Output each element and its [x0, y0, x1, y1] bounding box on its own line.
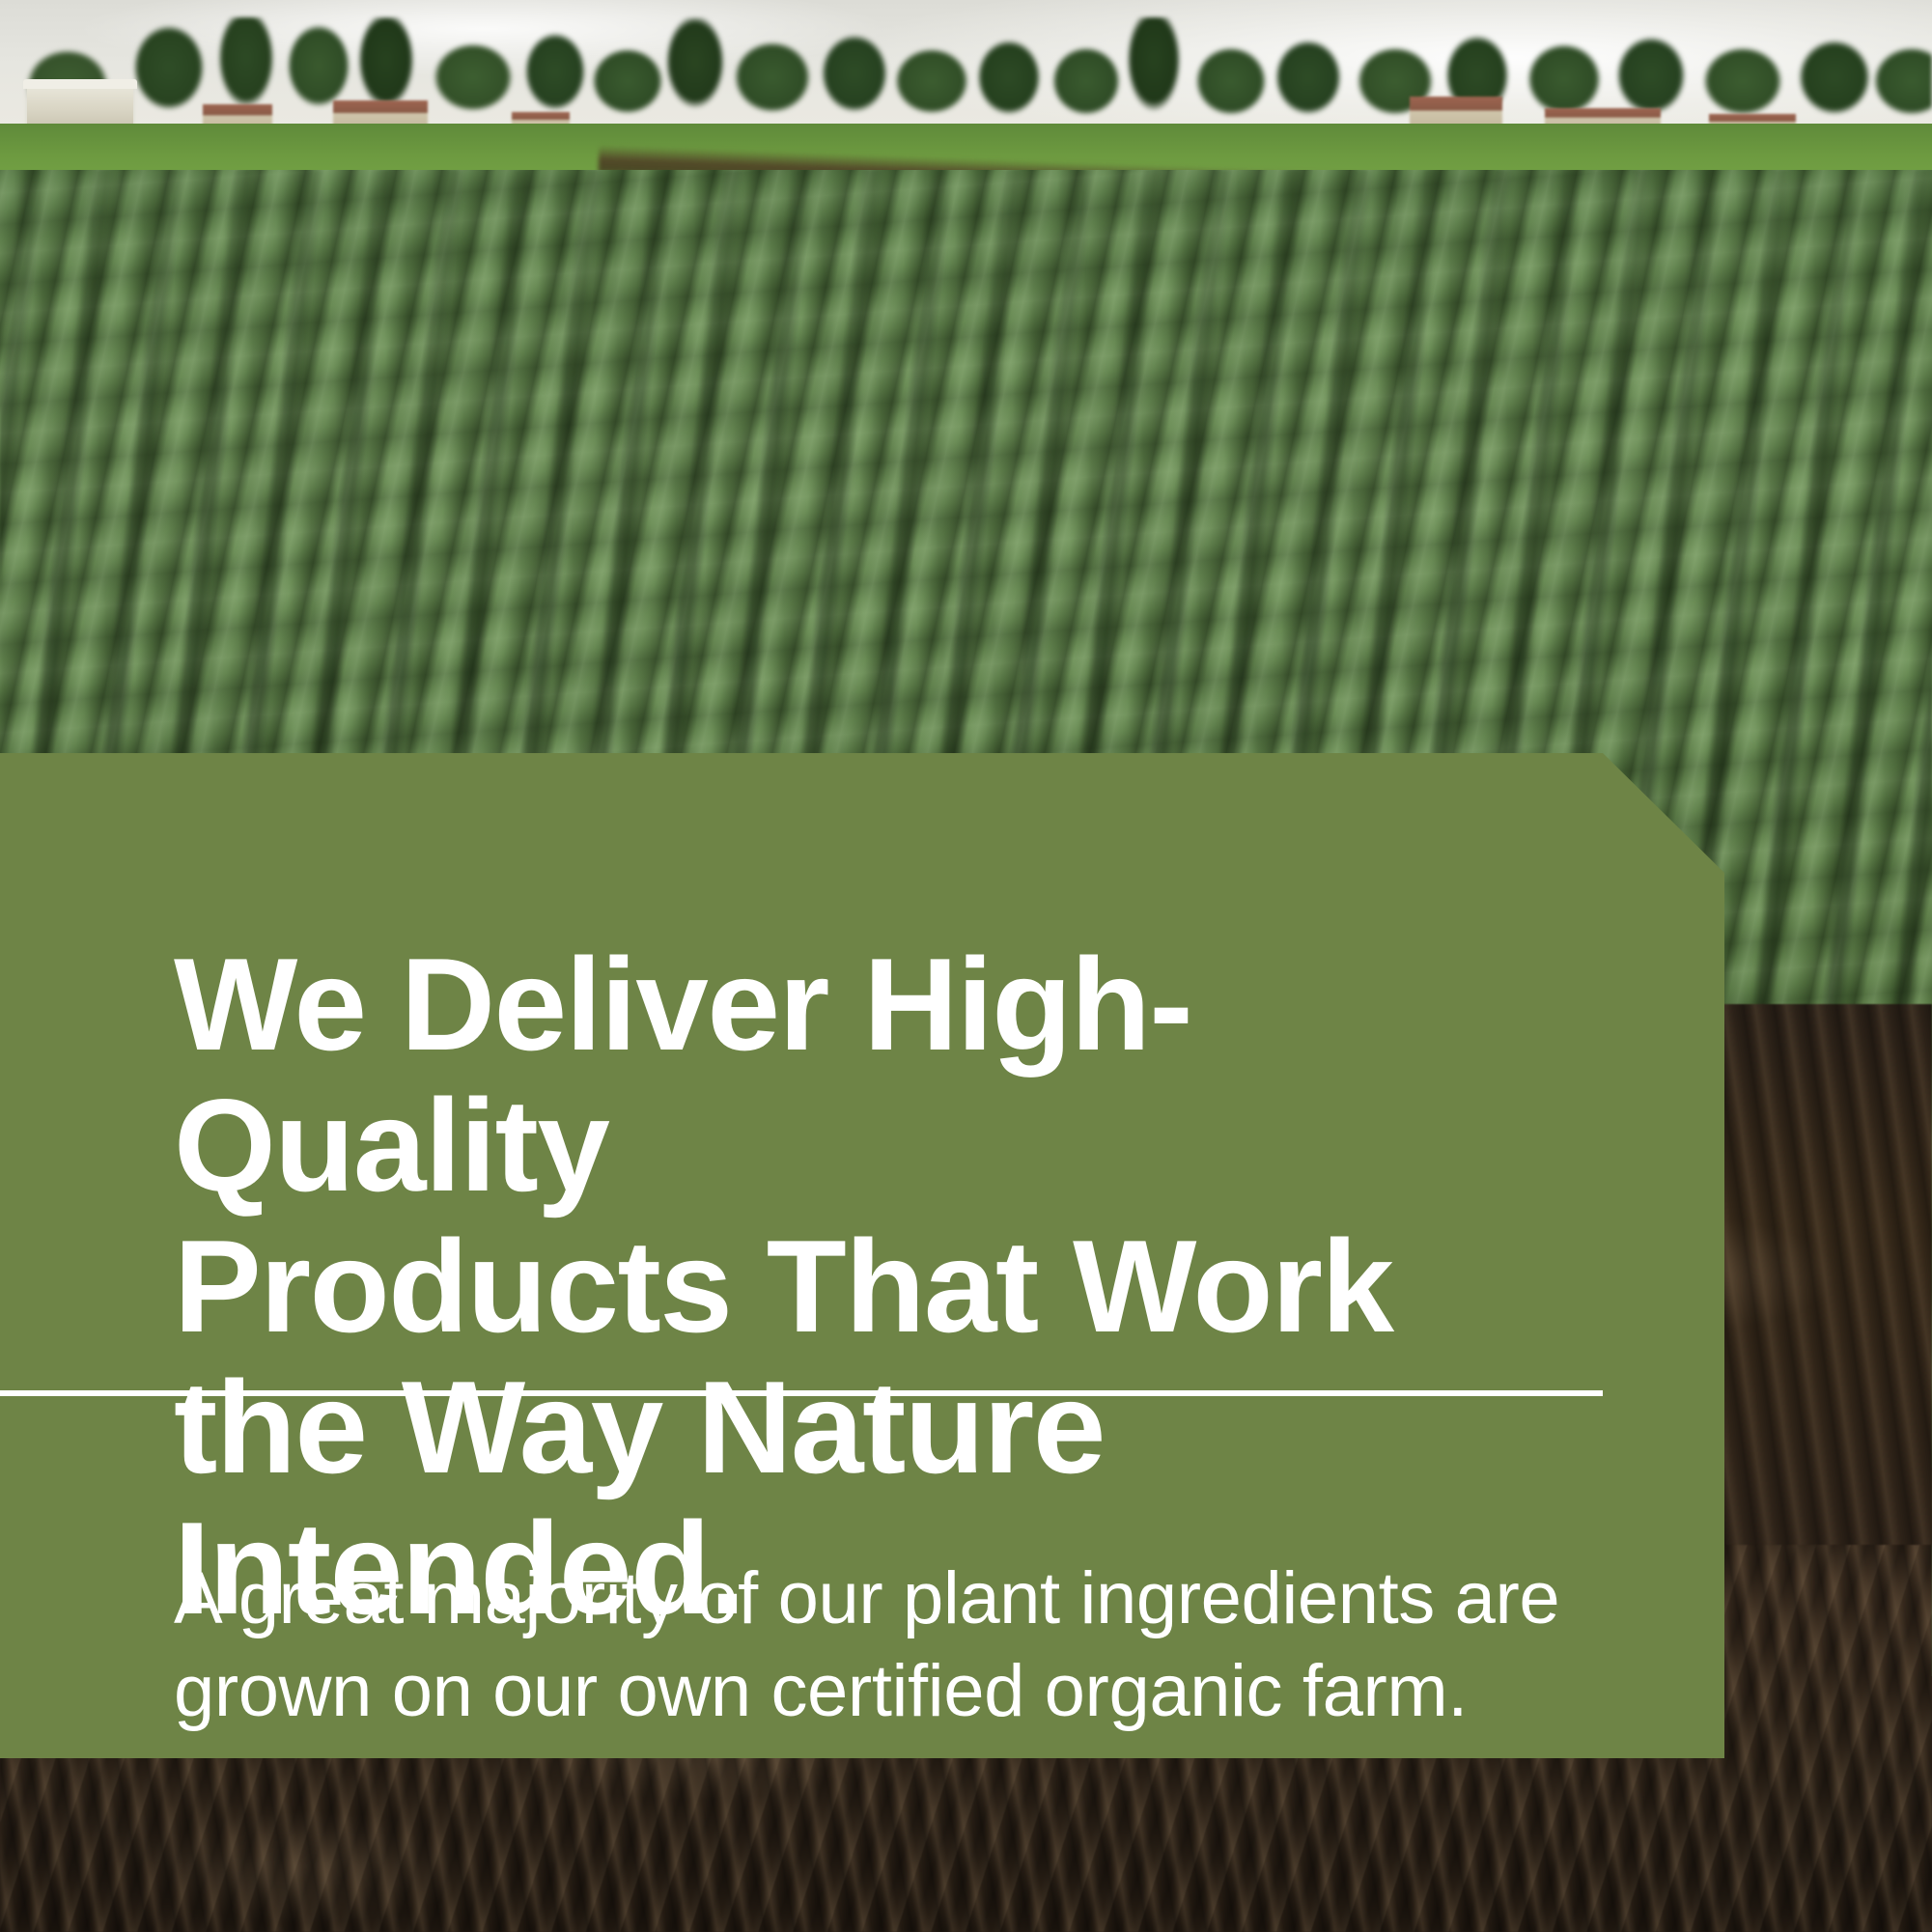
panel-content: We Deliver High-Quality Products That Wo…	[0, 753, 1724, 1758]
subtext: A great majority of our plant ingredient…	[174, 1553, 1574, 1738]
promo-banner: We Deliver High-Quality Products That Wo…	[0, 0, 1932, 1932]
headline: We Deliver High-Quality Products That Wo…	[174, 934, 1545, 1638]
divider-rule	[0, 1390, 1603, 1396]
green-text-panel: We Deliver High-Quality Products That Wo…	[0, 753, 1724, 1758]
